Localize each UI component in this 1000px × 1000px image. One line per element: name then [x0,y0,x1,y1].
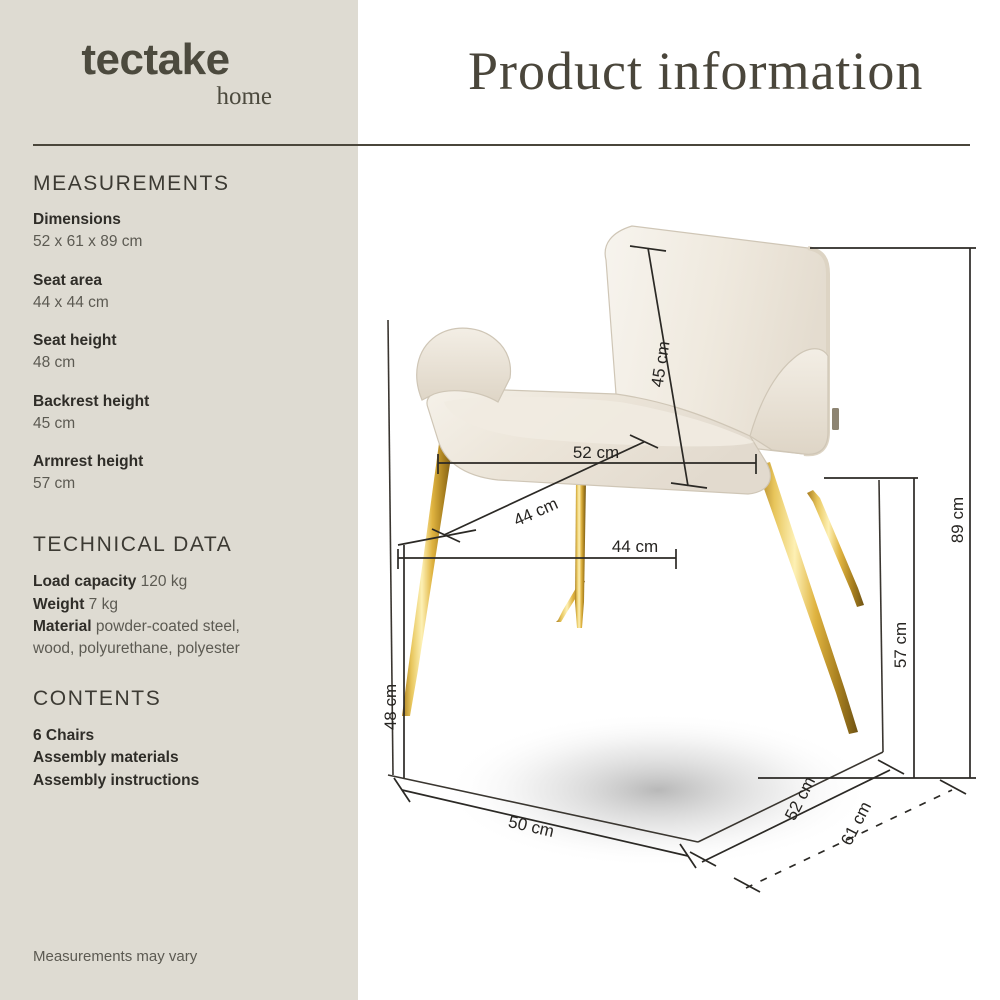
section-heading-technical-data: TECHNICAL DATA [33,533,333,557]
tech-line-material: Material powder-coated steel, [33,616,333,638]
measurement-seat-height: Seat height 48 cm [33,331,333,374]
ground-edge-back [879,480,883,752]
product-information-sheet: tectake home MEASUREMENTS Dimensions 52 … [0,0,1000,1000]
measurement-label: Seat height [33,331,333,352]
tech-line-material-cont: wood, polyurethane, polyester [33,638,333,660]
tech-value: powder-coated steel, [92,618,240,635]
chair-armrest-left [417,328,511,402]
measurement-value: 57 cm [33,473,333,495]
label-57cm-armrest: 57 cm [891,622,910,668]
product-diagram: 52 cm 45 cm 44 cm 44 cm 89 cm 57 cm 48 c… [358,150,1000,1000]
label-52cm-seat: 52 cm [573,443,619,462]
section-heading-contents: CONTENTS [33,687,333,711]
dimtick-50-l [394,778,410,802]
tech-line-load-capacity: Load capacity 120 kg [33,571,333,593]
dimtick-61-2 [940,780,966,794]
measurement-label: Armrest height [33,452,333,473]
measurement-dimensions: Dimensions 52 x 61 x 89 cm [33,210,333,253]
sidebar-content: MEASUREMENTS Dimensions 52 x 61 x 89 cm … [33,172,333,792]
tech-label: Weight [33,596,84,613]
header-divider [33,144,970,146]
contents-item: Assembly instructions [33,770,333,792]
measurement-armrest-height: Armrest height 57 cm [33,452,333,495]
section-heading-measurements: MEASUREMENTS [33,172,333,196]
measurement-label: Seat area [33,271,333,292]
chair-leg-center-front [575,480,586,628]
contents-item: Assembly materials [33,747,333,769]
tech-value: 7 kg [84,596,118,613]
measurement-seat-area: Seat area 44 x 44 cm [33,271,333,314]
tech-line-weight: Weight 7 kg [33,594,333,616]
brand-logo: tectake home [33,38,278,109]
contents-list: 6 Chairs Assembly materials Assembly ins… [33,725,333,792]
brand-tag [832,408,839,430]
page-title: Product information [468,40,923,102]
tech-label: Material [33,618,92,635]
contents-item: 6 Chairs [33,725,333,747]
measurement-value: 52 x 61 x 89 cm [33,231,333,253]
footnote: Measurements may vary [33,948,197,965]
technical-data-list: Load capacity 120 kg Weight 7 kg Materia… [33,571,333,661]
label-44cm-depth: 44 cm [511,494,561,530]
brand-name: tectake [33,38,278,82]
measurement-value: 48 cm [33,352,333,374]
label-89cm-total: 89 cm [948,497,967,543]
label-44cm-width: 44 cm [612,537,658,556]
sidebar: tectake home MEASUREMENTS Dimensions 52 … [0,0,358,1000]
measurement-backrest-height: Backrest height 45 cm [33,392,333,435]
measurement-label: Backrest height [33,392,333,413]
measurement-value: 44 x 44 cm [33,292,333,314]
measurement-value: 45 cm [33,413,333,435]
dimtick-52d-2 [878,760,904,774]
brand-sub: home [33,84,278,109]
tech-label: Load capacity [33,573,136,590]
dimtick-61-1 [734,878,760,892]
chair-leg-front-right [756,462,858,734]
label-48cm-seat-height: 48 cm [381,684,400,730]
chair-leg-front-left [402,436,454,716]
tech-value: 120 kg [136,573,187,590]
measurement-label: Dimensions [33,210,333,231]
chair-leg-back-right [807,490,864,607]
chair-illustration [402,226,864,734]
